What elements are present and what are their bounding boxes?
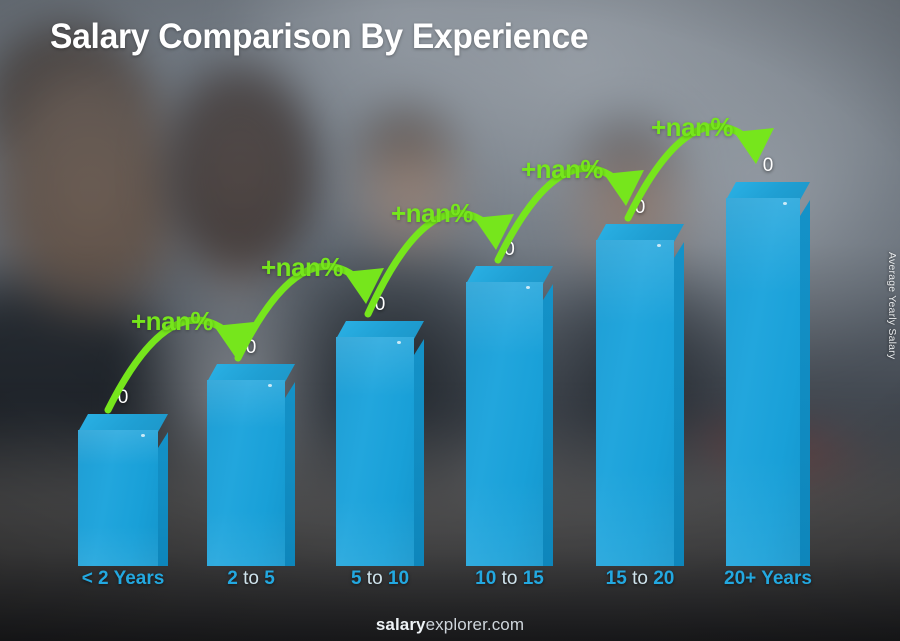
category-label-part: to: [632, 568, 653, 589]
footer-brand-rest: explorer.com: [426, 615, 525, 634]
bar-side-face: [414, 339, 424, 566]
bar-chart-plot: 0< 2 Years02 to 505 to 10010 to 15015 to…: [0, 0, 900, 641]
category-label-part: to: [243, 568, 264, 589]
footer-brand-bold: salary: [376, 615, 426, 634]
bar-value-label: 0: [596, 197, 684, 219]
bar-front-face: [596, 240, 674, 566]
category-label-part: 5: [264, 568, 275, 589]
category-label-3: 5 to 10: [306, 568, 454, 590]
category-label-part: 2: [227, 568, 243, 589]
category-label-part: 20+ Years: [724, 568, 812, 589]
category-label-6: 20+ Years: [696, 568, 840, 590]
bar-highlight-glint: [657, 244, 661, 247]
growth-arrowhead-icon: [734, 128, 774, 164]
bar-side-face: [800, 200, 810, 566]
bar-front-face: [78, 430, 158, 566]
bar-1: [78, 414, 168, 566]
category-label-part: to: [502, 568, 523, 589]
salary-chart-infographic: Salary Comparison By Experience Average …: [0, 0, 900, 641]
bar-value-label: 0: [336, 294, 424, 316]
bar-highlight-glint: [526, 286, 530, 289]
bar-highlight-glint: [268, 384, 272, 387]
bar-3: [336, 321, 424, 566]
growth-percent-label: +nan%: [521, 154, 603, 185]
growth-arrowhead-icon: [214, 322, 254, 358]
growth-percent-label: +nan%: [651, 112, 733, 143]
growth-arrowhead-icon: [474, 214, 514, 250]
category-label-part: 15: [523, 568, 544, 589]
category-label-part: 20: [653, 568, 674, 589]
site-footer: salaryexplorer.com: [0, 615, 900, 635]
bar-front-face: [336, 337, 414, 566]
category-label-4: 10 to 15: [436, 568, 583, 590]
bar-side-face: [285, 382, 295, 566]
category-label-part: 10: [475, 568, 501, 589]
bar-side-face: [674, 242, 684, 566]
bar-front-face: [466, 282, 543, 566]
bar-highlight-glint: [783, 202, 787, 205]
bar-value-label: 0: [207, 337, 295, 359]
bar-front-face: [726, 198, 800, 566]
bar-front-face: [207, 380, 285, 566]
growth-percent-label: +nan%: [391, 198, 473, 229]
category-label-5: 15 to 20: [566, 568, 714, 590]
growth-percent-label: +nan%: [131, 306, 213, 337]
category-label-part: 5: [351, 568, 367, 589]
bar-6: [726, 182, 810, 566]
category-label-1: < 2 Years: [48, 568, 198, 590]
category-label-2: 2 to 5: [177, 568, 325, 590]
bar-highlight-glint: [141, 434, 145, 437]
bar-5: [596, 224, 684, 566]
growth-percent-label: +nan%: [261, 252, 343, 283]
bar-value-label: 0: [466, 239, 553, 261]
bar-side-face: [543, 284, 553, 566]
bar-highlight-glint: [397, 341, 401, 344]
category-label-part: 15: [606, 568, 632, 589]
bar-2: [207, 364, 295, 566]
category-label-part: to: [367, 568, 388, 589]
category-label-part: < 2 Years: [82, 568, 165, 589]
growth-arrowhead-icon: [604, 170, 644, 206]
bar-value-label: 0: [78, 387, 168, 409]
growth-arrowhead-icon: [344, 268, 384, 304]
category-label-part: 10: [388, 568, 409, 589]
bar-side-face: [158, 432, 168, 566]
bar-value-label: 0: [726, 155, 810, 177]
bar-4: [466, 266, 553, 566]
